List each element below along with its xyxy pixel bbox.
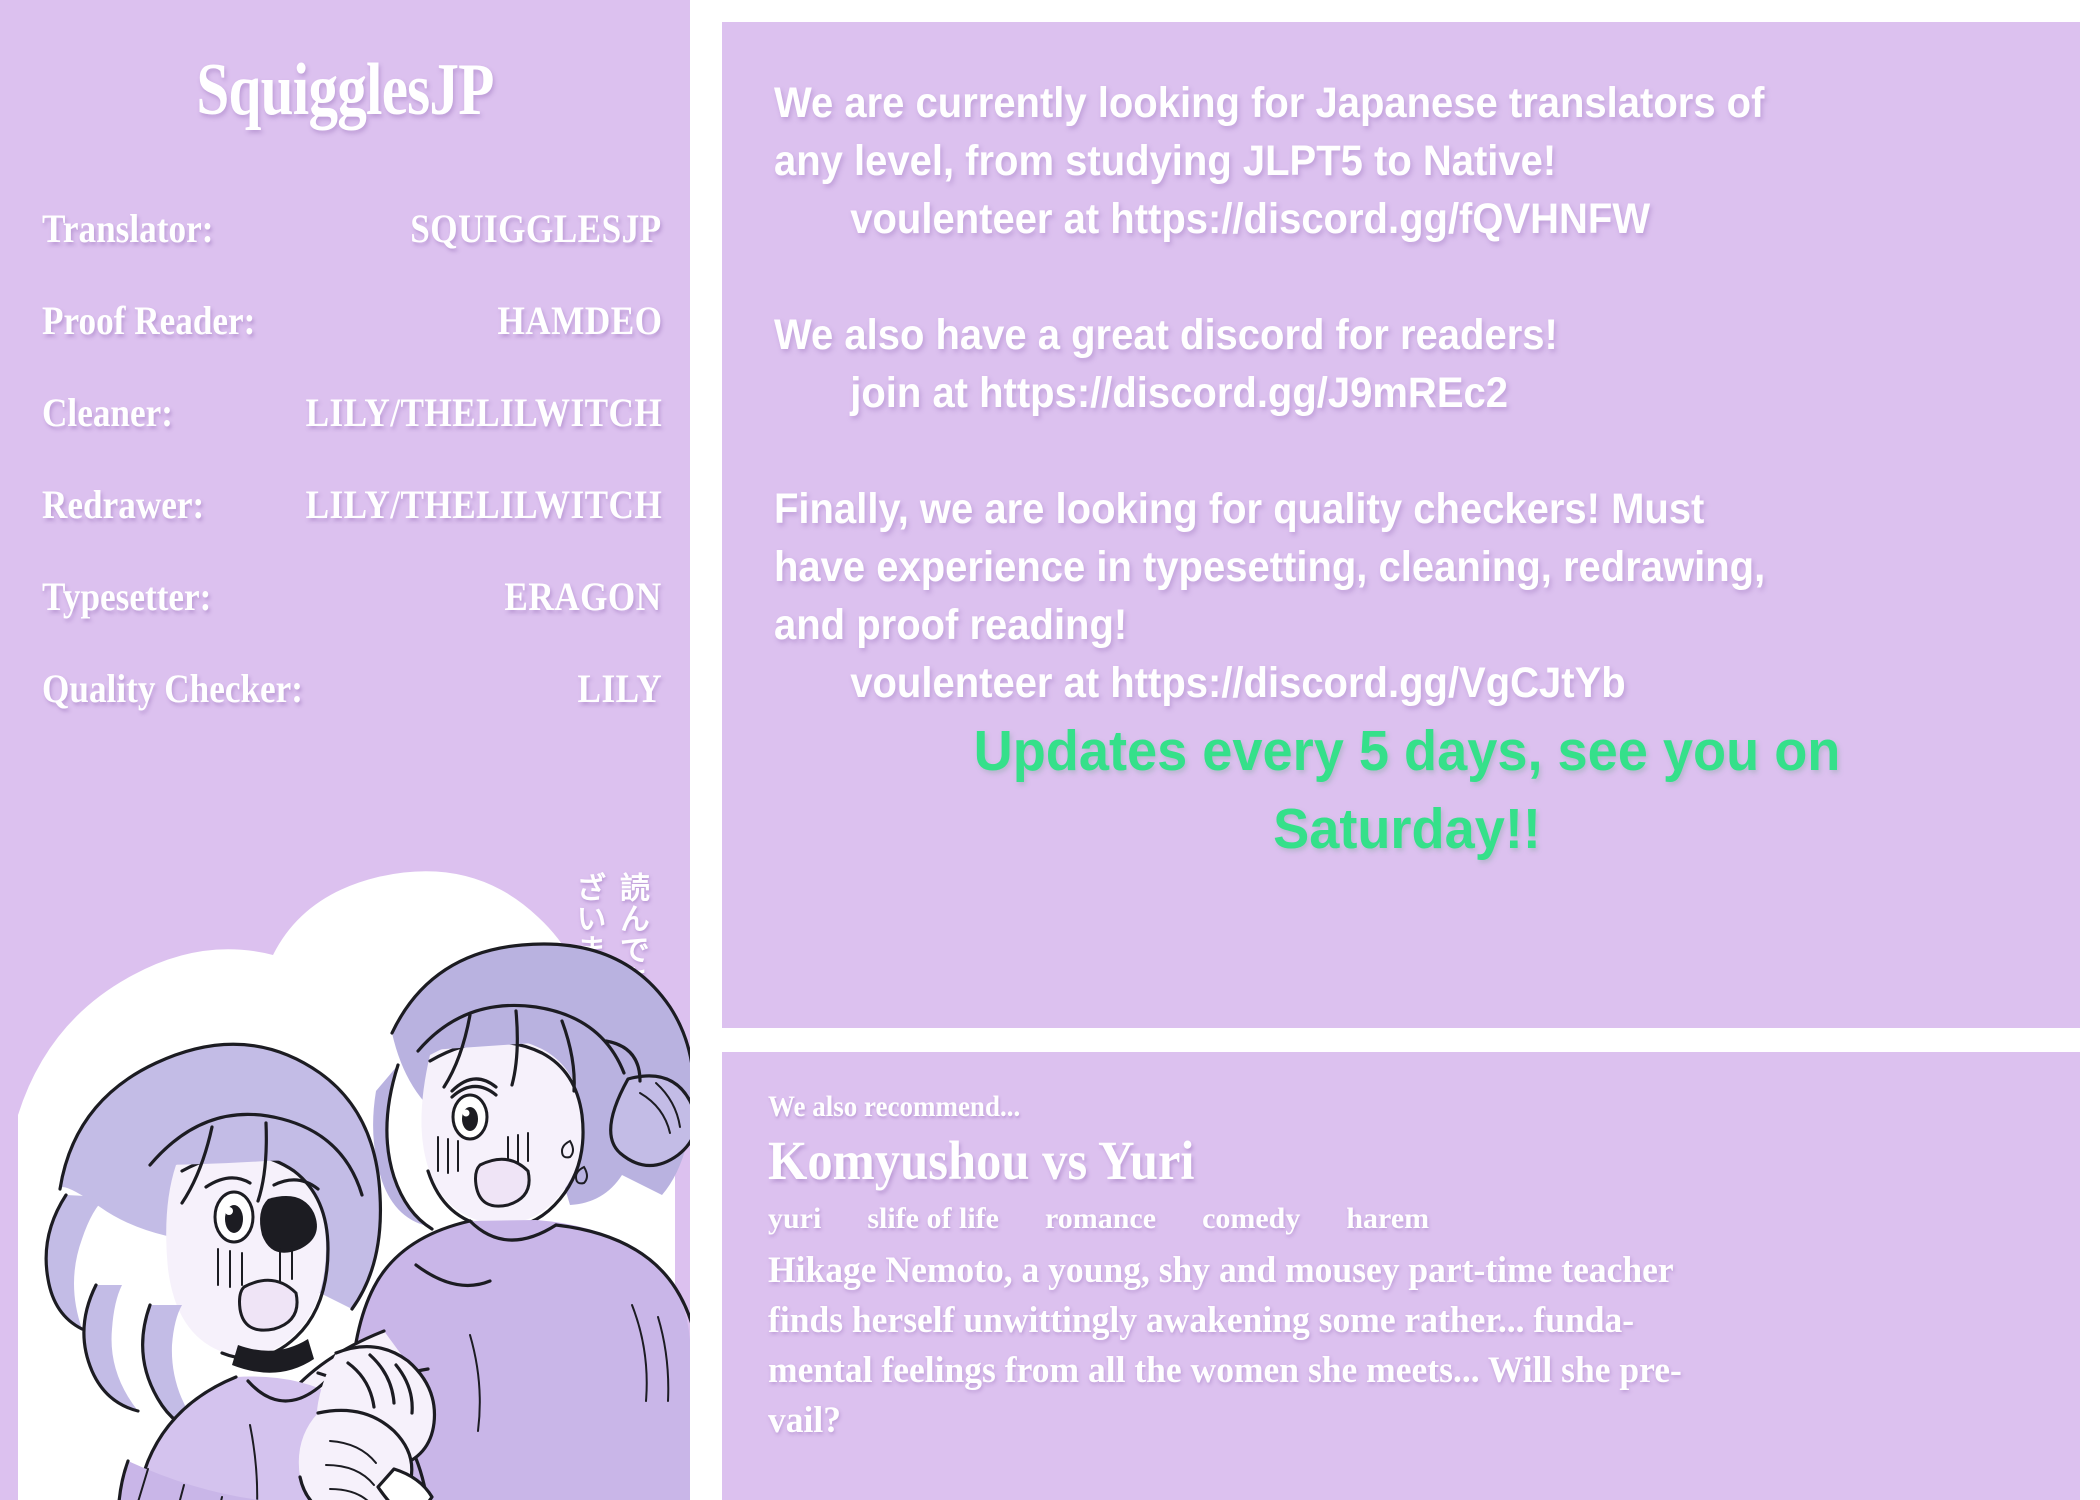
credit-role-label: Cleaner: (42, 389, 173, 436)
credit-row-typesetter: Typesetter: ERAGON (42, 573, 662, 665)
recommendation-description: Hikage Nemoto, a young, shy and mousey p… (768, 1246, 1989, 1446)
credit-name-value: HAMDEO (497, 297, 662, 344)
credit-role-label: Proof Reader: (42, 297, 255, 344)
credit-row-redrawer: Redrawer: LILY/THELILWITCH (42, 481, 662, 573)
recommendation-title[interactable]: Komyushou vs Yuri (768, 1130, 1938, 1192)
description-line: Hikage Nemoto, a young, shy and mousey p… (768, 1246, 1989, 1296)
credit-row-cleaner: Cleaner: LILY/THELILWITCH (42, 389, 662, 481)
tag-slice-of-life[interactable]: slife of life (867, 1202, 999, 1236)
credit-name-value: ERAGON (505, 573, 662, 620)
qc-line-3: and proof reading! (774, 596, 1951, 654)
credits-list: Translator: SQUIGGLESJP Proof Reader: HA… (42, 205, 662, 757)
recommendation-tags: yuri slife of life romance comedy harem (768, 1202, 2040, 1236)
credit-role-label: Redrawer: (42, 481, 204, 528)
group-title: SquigglesJP (69, 48, 621, 133)
update-schedule-line-1: Updates every 5 days, see you on (806, 712, 2009, 790)
recruit-line-1: We are currently looking for Japanese tr… (774, 74, 1951, 132)
credit-row-quality-checker: Quality Checker: LILY (42, 665, 662, 757)
qc-discord-link[interactable]: voulenteer at https://discord.gg/VgCJtYb (774, 654, 1951, 712)
description-line: finds herself unwittingly awakening some… (768, 1296, 1989, 1346)
update-schedule-line-2: Saturday!! (806, 790, 2009, 868)
recruit-line-2: any level, from studying JLPT5 to Native… (774, 132, 1951, 190)
credits-panel: SquigglesJP Translator: SQUIGGLESJP Proo… (0, 0, 690, 1500)
reader-discord-line: We also have a great discord for readers… (774, 306, 1951, 364)
qc-line-2: have experience in typesetting, cleaning… (774, 538, 1951, 596)
tag-comedy[interactable]: comedy (1202, 1202, 1300, 1236)
credits-page: SquigglesJP Translator: SQUIGGLESJP Proo… (0, 0, 2100, 1500)
credit-name-value: LILY (577, 665, 662, 712)
recommendation-kicker: We also recommend... (768, 1090, 1913, 1124)
spacer (774, 422, 2040, 480)
translator-discord-link[interactable]: voulenteer at https://discord.gg/fQVHNFW (774, 190, 1951, 248)
tag-romance[interactable]: romance (1045, 1202, 1156, 1236)
recommendation-panel: We also recommend... Komyushou vs Yuri y… (722, 1052, 2080, 1500)
description-line: vail? (768, 1396, 1989, 1446)
credit-role-label: Typesetter: (42, 573, 211, 620)
credit-role-label: Translator: (42, 205, 213, 252)
description-line: mental feelings from all the women she m… (768, 1346, 1989, 1396)
credit-row-translator: Translator: SQUIGGLESJP (42, 205, 662, 297)
tag-harem[interactable]: harem (1346, 1202, 1429, 1236)
reader-discord-link[interactable]: join at https://discord.gg/J9mREc2 (774, 364, 1951, 422)
credit-name-value: SQUIGGLESJP (411, 205, 662, 252)
credit-row-proof-reader: Proof Reader: HAMDEO (42, 297, 662, 389)
credit-role-label: Quality Checker: (42, 665, 303, 712)
credit-name-value: LILY/THELILWITCH (305, 389, 662, 436)
spacer (774, 248, 2040, 306)
manga-illustration: .ln { fill:none; stroke:#1c1c22; stroke-… (0, 865, 690, 1500)
credit-name-value: LILY/THELILWITCH (305, 481, 662, 528)
tag-yuri[interactable]: yuri (768, 1202, 821, 1236)
recruitment-panel: We are currently looking for Japanese tr… (722, 22, 2080, 1028)
qc-line-1: Finally, we are looking for quality chec… (774, 480, 1951, 538)
